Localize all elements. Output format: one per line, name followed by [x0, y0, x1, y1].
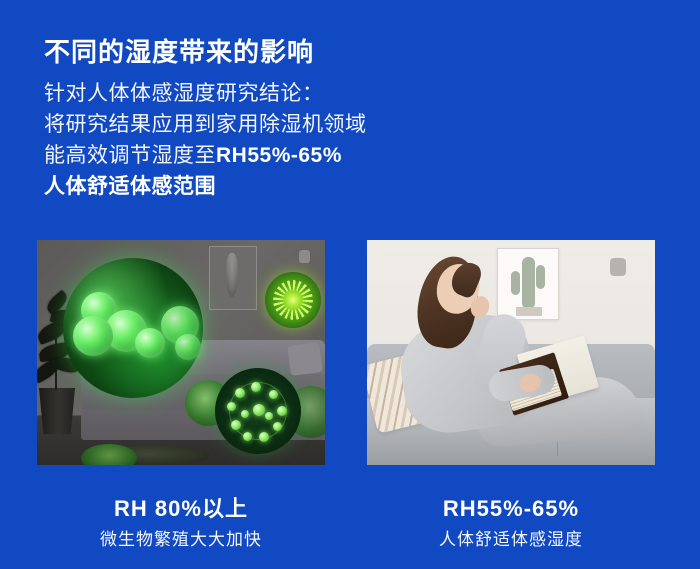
caption-left: RH 80%以上 微生物繁殖大大加快 [37, 495, 325, 553]
wall-knob-icon [610, 258, 626, 276]
body-copy-block: 针对人体体感湿度研究结论： 将研究结果应用到家用除湿机领域 能高效调节湿度至RH… [44, 78, 367, 202]
microbe-cluster-large-icon [63, 258, 203, 398]
cactus-art-frame-icon [497, 248, 559, 320]
humidity-infographic-poster: 不同的湿度带来的影响 针对人体体感湿度研究结论： 将研究结果应用到家用除湿机领域… [0, 0, 700, 569]
caption-right: RH55%-65% 人体舒适体感湿度 [367, 495, 655, 553]
body-copy-line-1: 针对人体体感湿度研究结论： [44, 78, 367, 109]
caption-right-subtitle: 人体舒适体感湿度 [367, 527, 655, 553]
plant-pot-shape [39, 388, 75, 434]
microbe-blob-icon [81, 444, 137, 465]
body-copy-line-3-prefix: 能高效调节湿度至 [44, 144, 216, 167]
wall-knob-icon [299, 250, 310, 263]
body-copy-line-2: 将研究结果应用到家用除湿机领域 [44, 109, 367, 140]
body-copy-line-3: 能高效调节湿度至RH55%-65% [44, 140, 367, 171]
light-room-scene [367, 240, 655, 465]
microbe-spiky-small-icon [265, 272, 321, 328]
caption-left-subtitle: 微生物繁殖大大加快 [37, 527, 325, 553]
sofa-cushion-shape [287, 342, 322, 376]
caption-right-title: RH55%-65% [367, 495, 655, 523]
microbe-spiky-large-icon [215, 368, 301, 454]
caption-left-title: RH 80%以上 [37, 495, 325, 523]
wall-art-frame-icon [209, 246, 257, 310]
humidity-range-highlight: RH55%-65% [216, 144, 342, 167]
photo-high-humidity-microbes [37, 240, 325, 465]
dark-room-scene [37, 240, 325, 465]
photo-comfortable-humidity-woman [367, 240, 655, 465]
page-title: 不同的湿度带来的影响 [44, 35, 314, 69]
body-copy-line-4: 人体舒适体感范围 [44, 171, 367, 202]
